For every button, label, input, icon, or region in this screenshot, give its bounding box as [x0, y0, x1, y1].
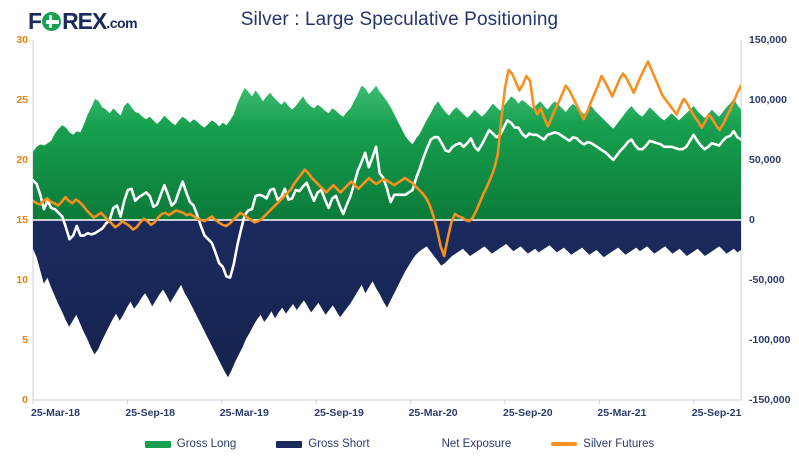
x-axis: 25-Mar-1825-Sep-1825-Mar-1925-Sep-1925-M…	[0, 403, 799, 425]
chart-series-group	[33, 62, 741, 378]
x-axis-tick-3: 25-Sep-19	[314, 407, 364, 419]
legend-item-silver-futures[interactable]: Silver Futures	[551, 438, 654, 450]
legend-label-1: Gross Short	[308, 438, 369, 450]
x-axis-tick-6: 25-Mar-21	[597, 407, 646, 419]
y-left-tick-1: 5	[22, 334, 28, 346]
y-left-tick-5: 25	[16, 94, 28, 106]
y-axis-right: -150,000-100,000-50,000050,000100,000150…	[741, 0, 799, 410]
y-left-tick-6: 30	[16, 34, 28, 46]
legend-item-gross-short[interactable]: Gross Short	[276, 438, 369, 450]
y-right-tick-3: 0	[749, 214, 755, 226]
legend-swatch-icon-0	[145, 441, 171, 448]
y-left-tick-4: 20	[16, 154, 28, 166]
x-axis-tick-7: 25-Sep-21	[692, 407, 742, 419]
legend-swatch-icon-1	[276, 441, 302, 448]
legend-item-net-exposure[interactable]: Net Exposure	[410, 438, 512, 450]
x-axis-tick-2: 25-Mar-19	[220, 407, 269, 419]
x-axis-tick-5: 25-Sep-20	[503, 407, 553, 419]
y-left-tick-3: 15	[16, 214, 28, 226]
legend-label-0: Gross Long	[177, 438, 236, 450]
series-gross-long-area	[33, 86, 741, 220]
y-right-tick-6: 150,000	[749, 34, 787, 46]
y-right-tick-1: -100,000	[749, 334, 790, 346]
y-axis-left: 051015202530	[0, 0, 33, 410]
series-gross-short-area	[33, 220, 741, 377]
legend-label-3: Silver Futures	[583, 438, 654, 450]
x-axis-tick-0: 25-Mar-18	[31, 407, 80, 419]
legend-swatch-icon-2	[410, 442, 436, 446]
y-right-tick-5: 100,000	[749, 94, 787, 106]
y-left-tick-2: 10	[16, 274, 28, 286]
chart-legend: Gross LongGross ShortNet ExposureSilver …	[0, 434, 799, 454]
forex-chart-card: FREX.com Silver : Large Speculative Posi…	[0, 0, 799, 457]
x-axis-tick-4: 25-Mar-20	[409, 407, 458, 419]
y-right-tick-2: -50,000	[749, 274, 785, 286]
chart-plot-area	[0, 0, 799, 410]
x-axis-tick-1: 25-Sep-18	[125, 407, 175, 419]
legend-label-2: Net Exposure	[442, 438, 512, 450]
legend-swatch-icon-3	[551, 442, 577, 446]
legend-item-gross-long[interactable]: Gross Long	[145, 438, 236, 450]
y-right-tick-4: 50,000	[749, 154, 781, 166]
